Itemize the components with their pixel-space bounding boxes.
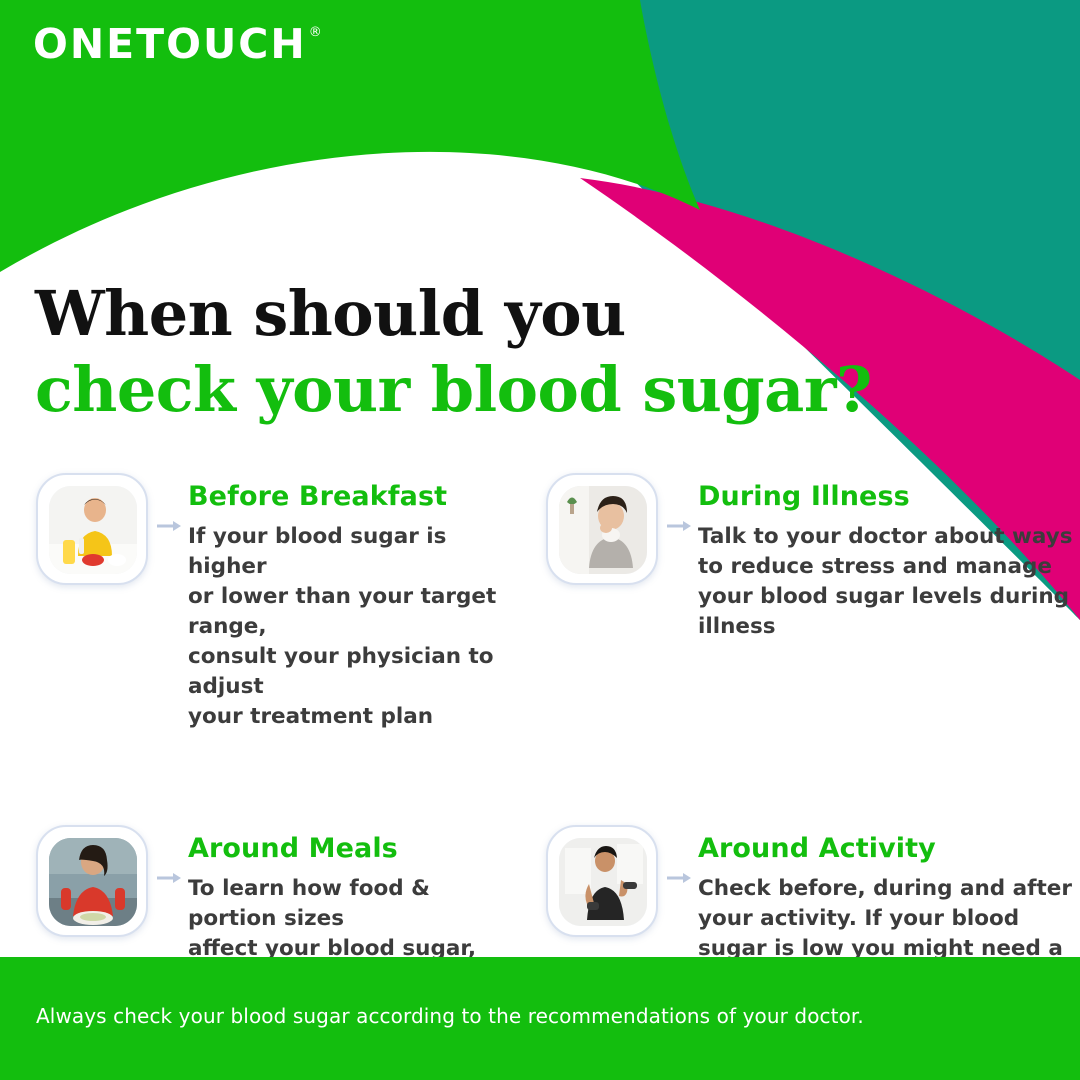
tip-heading-0: Before Breakfast [188,482,520,512]
tip-body-0: If your blood sugar is higher or lower t… [188,522,520,733]
man-eating-breakfast-photo [49,486,137,574]
tip-thumbnail-0 [36,470,152,588]
arrow-right-icon [662,822,698,934]
page-title: When should you check your blood sugar? [35,276,872,427]
man-lifting-dumbbell-photo [559,838,647,926]
footer-note: Always check your blood sugar according … [36,1004,864,1028]
arrow-right-icon [152,470,188,582]
tip-heading-1: During Illness [698,482,1080,512]
tip-body-1: Talk to your doctor about ways to reduce… [698,522,1080,642]
thumbnail-frame [546,825,658,937]
thumbnail-frame [546,473,658,585]
tip-thumbnail-3 [546,822,662,940]
footer-banner: Always check your blood sugar according … [0,957,1080,1080]
tip-text-0: Before Breakfast If your blood sugar is … [188,470,520,732]
tip-thumbnail-2 [36,822,152,940]
title-line-1: When should you [35,276,872,352]
infographic-poster: ONETOUCH ® When should you check your bl… [0,0,1080,1080]
arrow-right-icon [152,822,188,934]
arrow-right-icon [662,470,698,582]
woman-sick-sneezing-photo [559,486,647,574]
woman-eating-meal-photo [49,838,137,926]
tip-card-before-breakfast: Before Breakfast If your blood sugar is … [0,470,520,732]
tip-thumbnail-1 [546,470,662,588]
brand-logo: ONETOUCH ® [33,24,322,65]
tips-row-1: Before Breakfast If your blood sugar is … [0,470,1080,732]
tip-heading-3: Around Activity [698,834,1080,864]
tip-text-1: During Illness Talk to your doctor about… [698,470,1080,642]
tip-card-during-illness: During Illness Talk to your doctor about… [520,470,1080,732]
brand-logo-text: ONETOUCH [33,24,307,65]
thumbnail-frame [36,825,148,937]
thumbnail-frame [36,473,148,585]
tip-heading-2: Around Meals [188,834,520,864]
title-line-2: check your blood sugar? [35,352,872,428]
registered-trademark-icon: ® [309,26,322,39]
